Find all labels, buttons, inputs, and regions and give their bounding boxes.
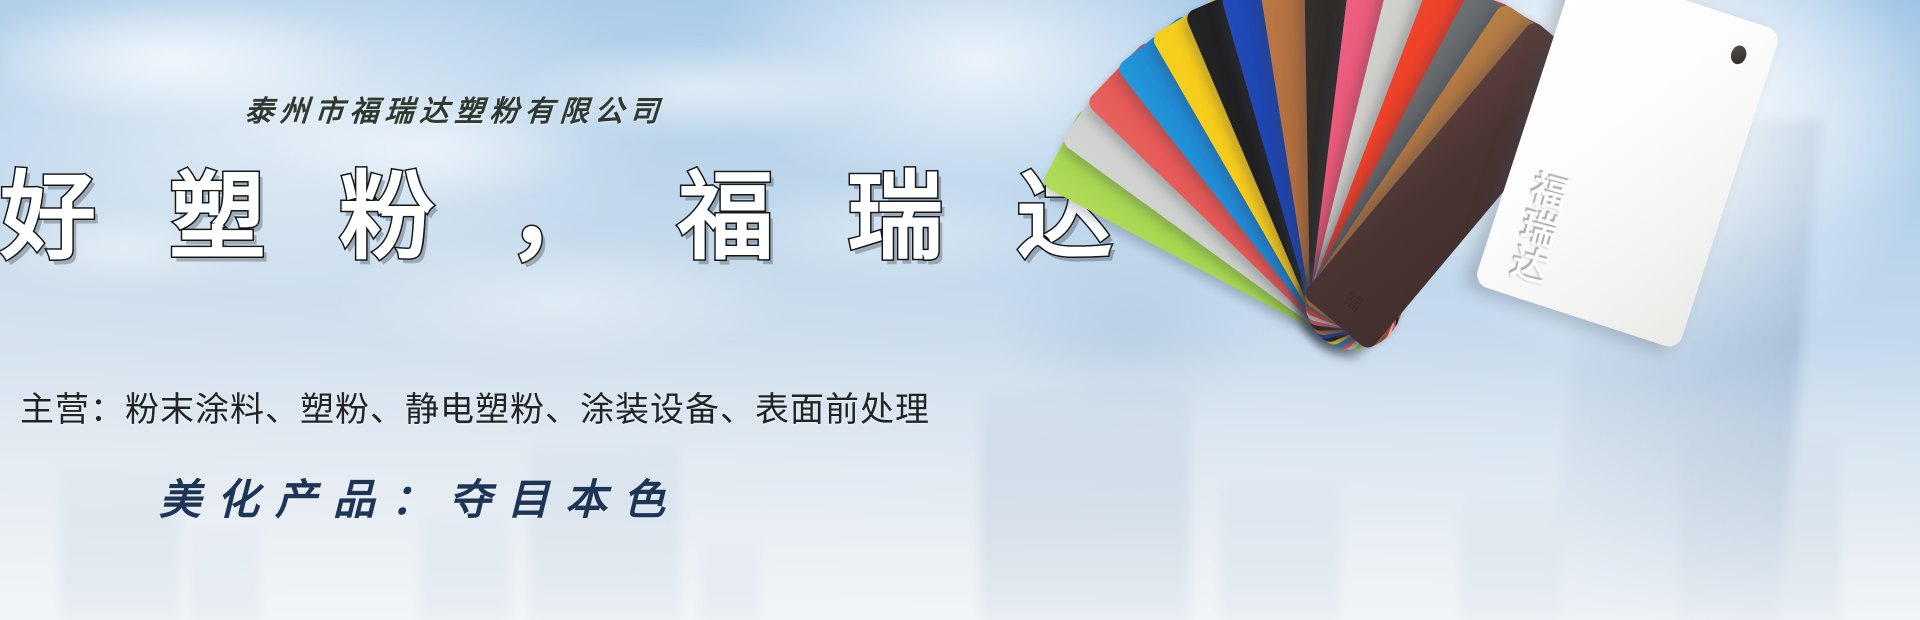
banner-copy: 泰州市福瑞达塑粉有限公司 好 塑 粉 ， 福 瑞 达 主营：粉末涂料、塑粉、静电… — [0, 0, 1120, 620]
card-embossed-brand: 福瑞达 — [1496, 165, 1576, 289]
headline: 好 塑 粉 ， 福 瑞 达 — [0, 166, 990, 270]
business-scope-subtitle: 主营：粉末涂料、塑粉、静电塑粉、涂装设备、表面前处理 — [0, 382, 950, 431]
tagline: 美化产品：夺目本色 — [0, 466, 840, 527]
promo-banner: 福福福福福福福福瑞达 泰州市福瑞达塑粉有限公司 好 塑 粉 ， 福 瑞 达 主营… — [0, 0, 1920, 620]
card-hanging-hole — [1729, 43, 1749, 66]
company-name: 泰州市福瑞达塑粉有限公司 — [0, 88, 911, 130]
